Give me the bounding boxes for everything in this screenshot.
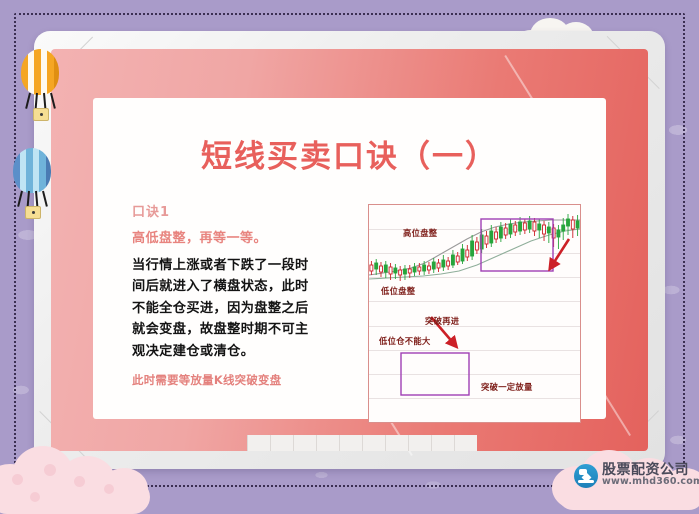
brand-logo-icon [574,464,598,488]
lesson-number-label: 口诀1 [132,201,317,220]
chart-annotation: 低位盘整 [381,285,415,297]
blue-balloon-ropes [13,191,51,207]
orange-balloon-basket [33,108,49,121]
orange-balloon-envelope [21,49,59,95]
orange-balloon-ropes [21,93,59,109]
brand-url: www.mhd360.com [602,476,699,487]
blue-balloon-basket [25,206,41,219]
content-card: 短线买卖口诀（一） 口诀1 高低盘整，再等一等。 当行情上涨或者下跌了一段时间后… [93,98,606,419]
chart-annotation: 突破一定放量 [481,381,533,393]
chart-annotation: 突破再进 [425,315,459,327]
chart-annotation: 高位盘整 [403,227,437,239]
chart-plot-area [369,205,580,422]
band-notch-teeth [247,435,477,451]
lesson-subtitle: 高低盘整，再等一等。 [132,227,317,246]
candlestick-chart: 高位盘整低位盘整突破再进低位仓不能大突破一定放量 [368,204,581,423]
picture-frame: 短线买卖口诀（一） 口诀1 高低盘整，再等一等。 当行情上涨或者下跌了一段时间后… [34,31,665,469]
lesson-body-text: 当行情上涨或者下跌了一段时间后就进入了横盘状态，此时不能全仓买进，因为盘整之后就… [132,255,317,362]
lesson-footnote: 此时需要等放量K线突破变盘 [132,372,317,388]
chart-annotation: 低位仓不能大 [379,335,431,347]
blue-balloon-envelope [13,148,51,193]
lesson-text-column: 口诀1 高低盘整，再等一等。 当行情上涨或者下跌了一段时间后就进入了横盘状态，此… [132,201,317,388]
page-title: 短线买卖口诀（一） [93,131,606,176]
watermark: 股票配资公司 www.mhd360.com [568,455,699,495]
